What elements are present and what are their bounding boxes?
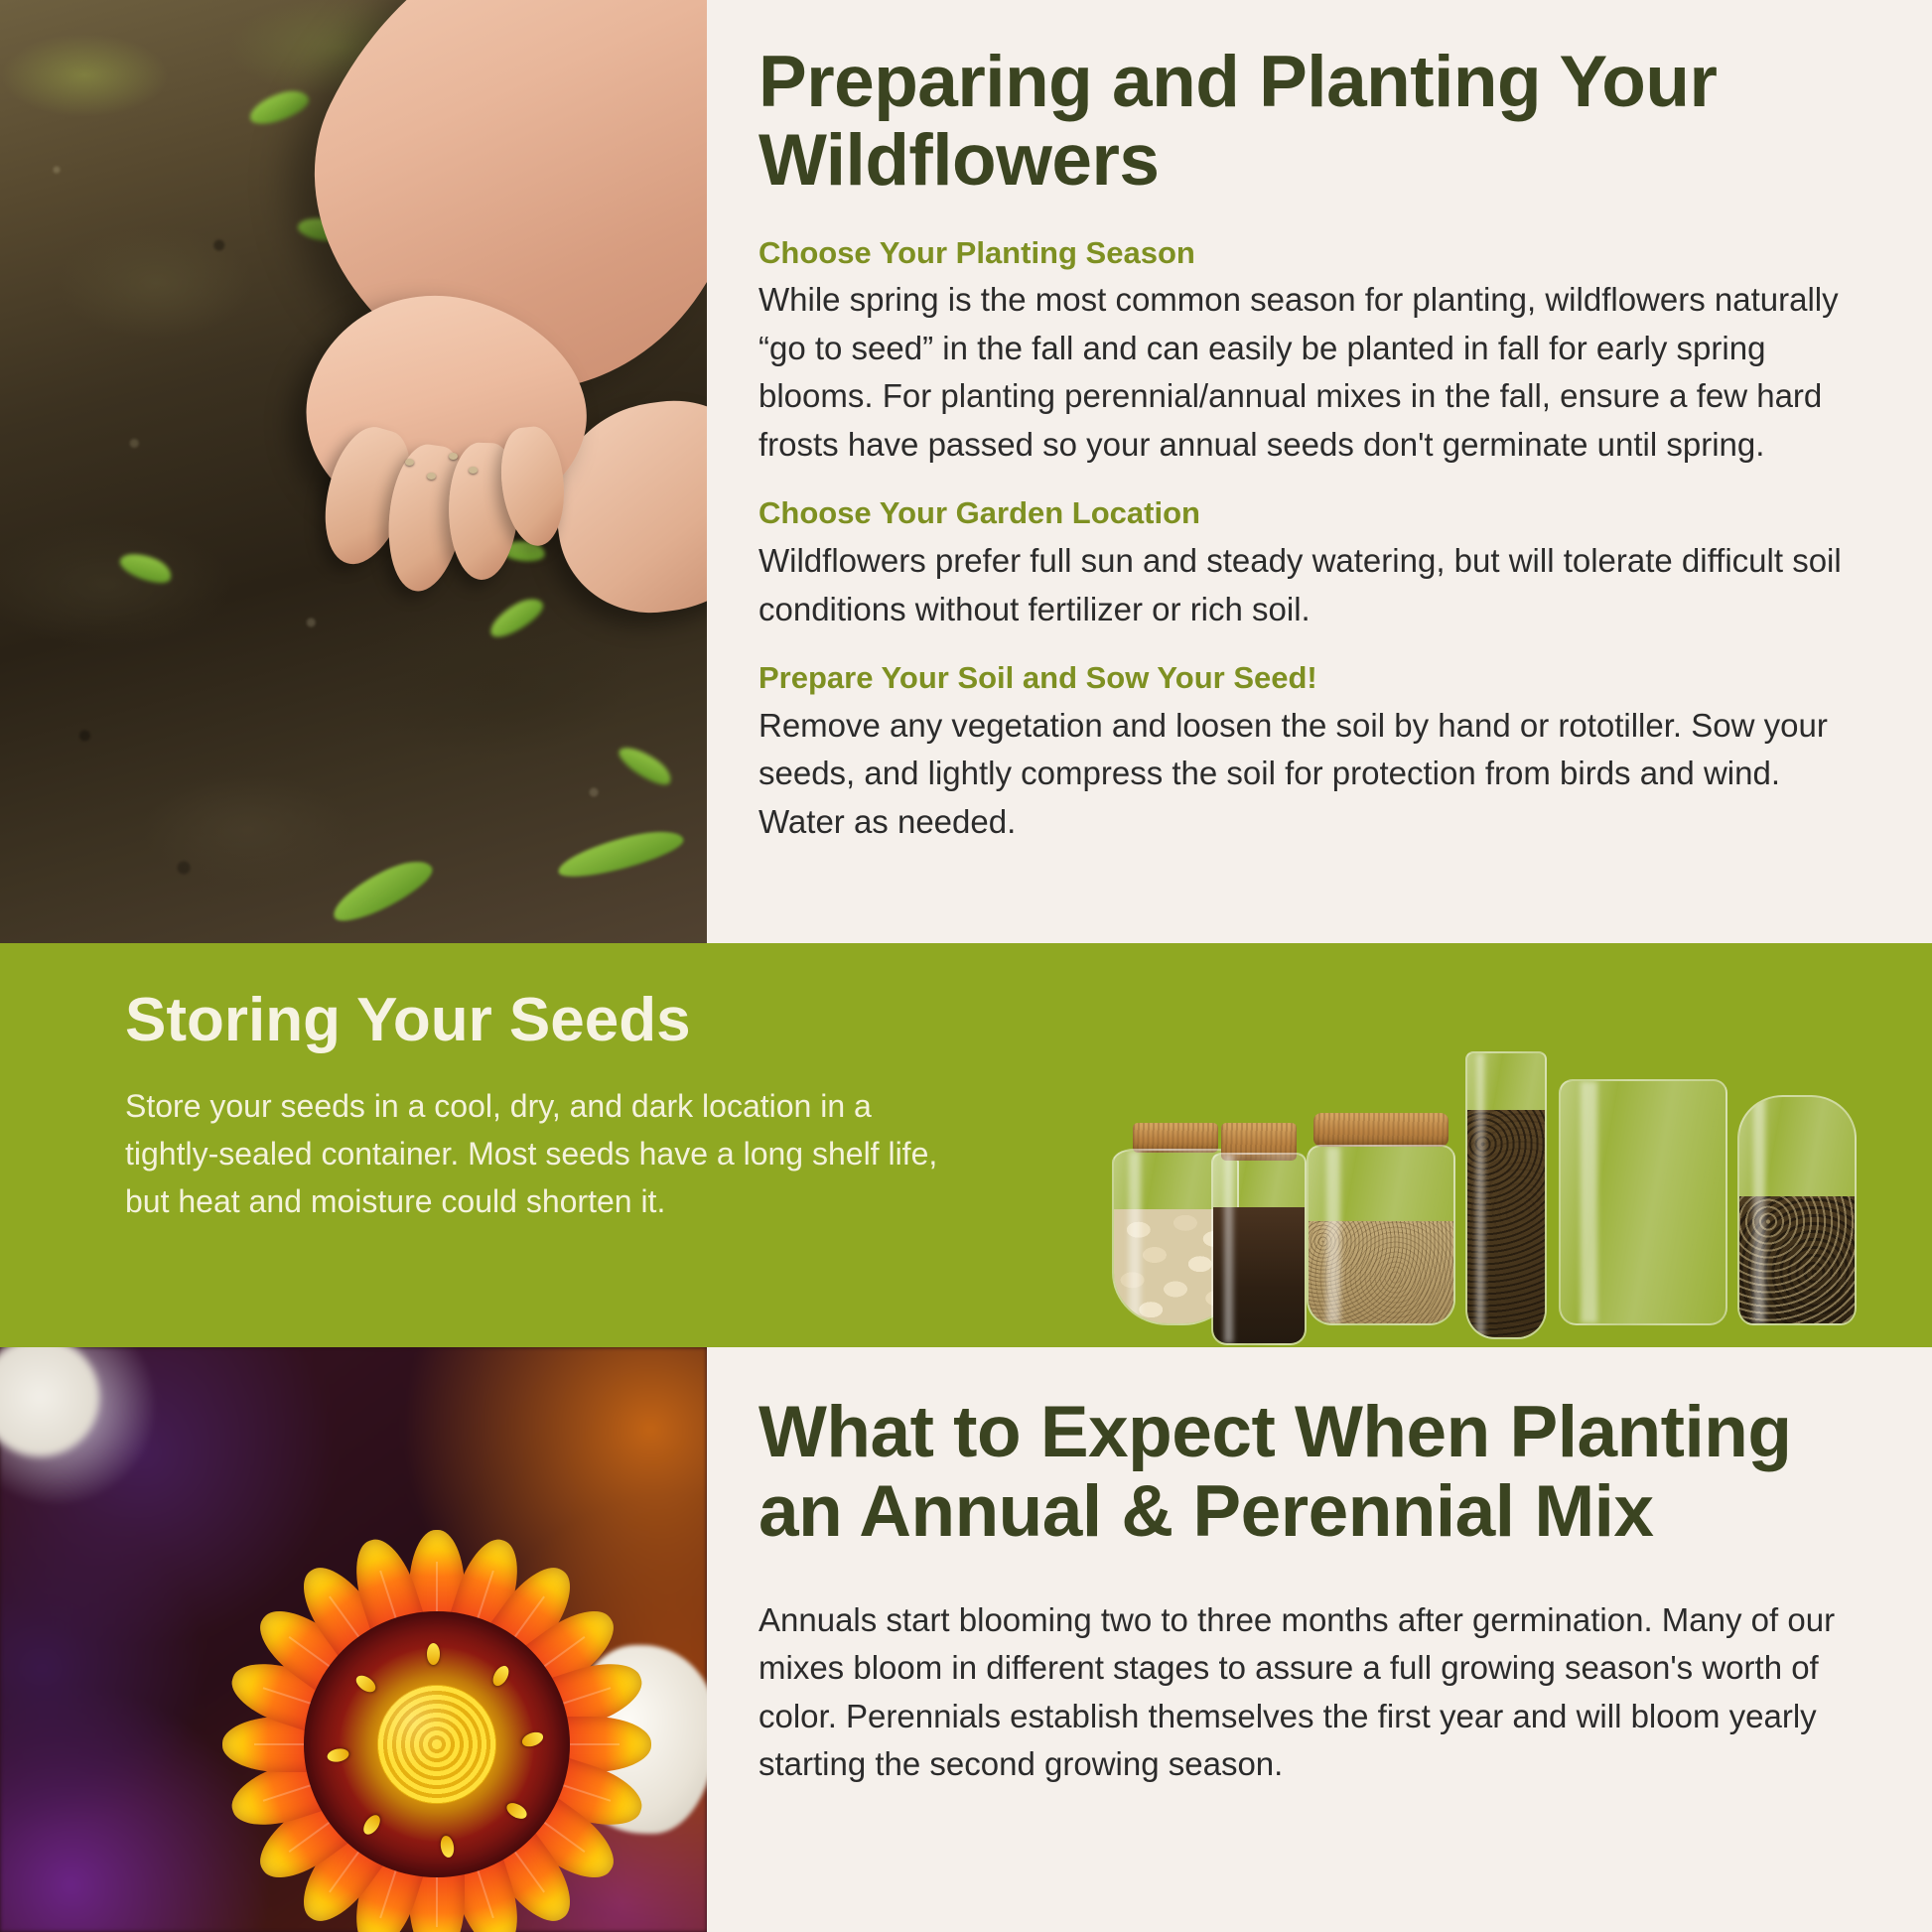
jar-pumpkin-seeds — [1559, 1079, 1727, 1325]
jar-tall-grain — [1465, 1051, 1547, 1339]
glass-body — [1737, 1095, 1857, 1325]
gaillardia-bloom — [159, 1466, 707, 1932]
blanket-flower-image — [0, 1347, 707, 1932]
page-title-planting: Preparing and Planting Your Wildflowers — [759, 44, 1868, 201]
glass-body — [1307, 1145, 1455, 1325]
subheading-planting-season: Choose Your Planting Season — [759, 234, 1868, 273]
storing-text-column: Storing Your Seeds Store your seeds in a… — [125, 987, 959, 1225]
glass-body — [1465, 1051, 1547, 1339]
section-preparing-and-planting: Preparing and Planting Your Wildflowers … — [0, 0, 1932, 943]
planting-text-column: Preparing and Planting Your Wildflowers … — [707, 0, 1932, 943]
stamen — [427, 1643, 440, 1665]
expect-text-column: What to Expect When Planting an Annual &… — [707, 1347, 1932, 1932]
glass-body — [1559, 1079, 1727, 1325]
seed-fill-grain — [1467, 1110, 1545, 1337]
paragraph-garden-location: Wildflowers prefer full sun and steady w… — [759, 537, 1868, 633]
seed-fill-sand — [1309, 1221, 1453, 1323]
seed — [427, 473, 436, 480]
seed-fill-dark — [1213, 1207, 1305, 1343]
paragraph-what-to-expect: Annuals start blooming two to three mont… — [759, 1596, 1868, 1789]
page-title-what-to-expect: What to Expect When Planting an Annual &… — [759, 1393, 1868, 1553]
seed-fill-mixed — [1739, 1196, 1855, 1323]
seed-fill-pumpkin — [1561, 1169, 1725, 1323]
paragraph-prepare-soil: Remove any vegetation and loosen the soi… — [759, 702, 1868, 847]
paragraph-planting-season: While spring is the most common season f… — [759, 276, 1868, 469]
infographic-page: Preparing and Planting Your Wildflowers … — [0, 0, 1932, 1932]
hand-sowing-seeds-image — [0, 0, 707, 943]
paragraph-storing: Store your seeds in a cool, dry, and dar… — [125, 1082, 959, 1225]
subheading-prepare-soil: Prepare Your Soil and Sow Your Seed! — [759, 659, 1868, 698]
seed — [405, 459, 414, 466]
cork-lid — [1313, 1113, 1449, 1147]
subheading-garden-location: Choose Your Garden Location — [759, 494, 1868, 533]
jar-sand-seed — [1307, 1145, 1455, 1325]
section-what-to-expect: What to Expect When Planting an Annual &… — [0, 1347, 1932, 1932]
section-storing-your-seeds: Storing Your Seeds Store your seeds in a… — [0, 943, 1932, 1347]
jar-dark-seed — [1211, 1153, 1307, 1345]
seed-jars-image — [1112, 943, 1886, 1347]
section-title-storing: Storing Your Seeds — [125, 987, 959, 1054]
seed — [469, 467, 478, 474]
jar-mixed-seed — [1737, 1095, 1857, 1325]
glass-body — [1211, 1153, 1307, 1345]
seed — [449, 453, 458, 460]
